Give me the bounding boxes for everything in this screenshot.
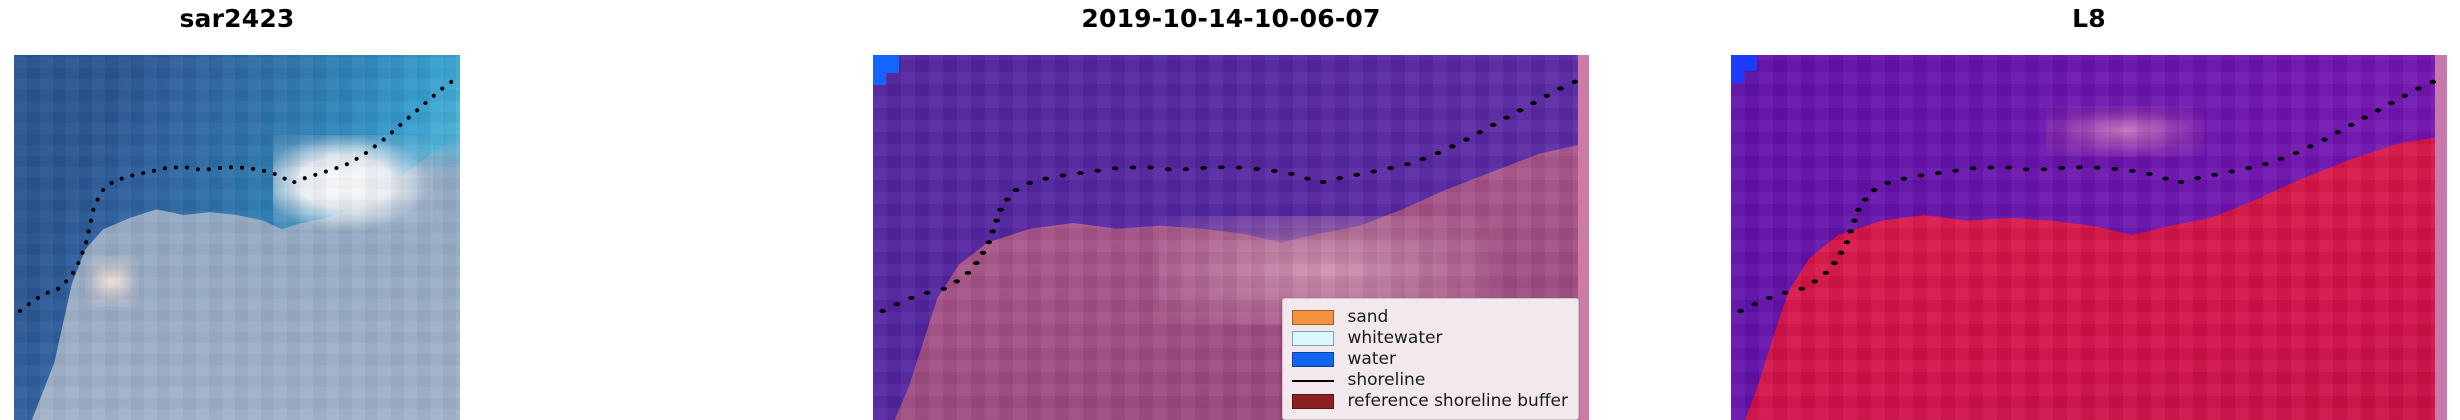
sar-panel-image[interactable] (14, 55, 460, 420)
legend-label-reference-buffer: reference shoreline buffer (1348, 391, 1569, 411)
legend-item-reference-buffer: reference shoreline buffer (1292, 391, 1569, 411)
classification-shoreline-path (883, 77, 1586, 311)
classification-panel-title: 2019-10-14-10-06-07 (873, 4, 1589, 34)
legend-item-water: water (1292, 349, 1569, 369)
reference-buffer-swatch-icon (1292, 394, 1334, 409)
l8-shoreline-path (1741, 77, 2444, 311)
l8-panel-image[interactable] (1731, 55, 2447, 420)
map-legend[interactable]: sand whitewater water shoreline referenc… (1282, 298, 1580, 420)
shoreline-line-icon (1292, 373, 1334, 388)
legend-item-shoreline: shoreline (1292, 370, 1569, 390)
sar-shoreline-overlay (14, 55, 460, 420)
legend-label-water: water (1348, 349, 1396, 369)
legend-label-sand: sand (1348, 307, 1389, 327)
sar-shoreline-path (20, 77, 458, 311)
whitewater-swatch-icon (1292, 331, 1334, 346)
l8-panel-title: L8 (1731, 4, 2447, 34)
sand-swatch-icon (1292, 310, 1334, 325)
legend-label-shoreline: shoreline (1348, 370, 1426, 390)
legend-item-sand: sand (1292, 307, 1569, 327)
figure-canvas: sar2423 2019-10-14-10-06-07 (0, 0, 2460, 420)
l8-shoreline-overlay (1731, 55, 2447, 420)
sar-panel: sar2423 (14, 0, 460, 420)
sar-panel-title: sar2423 (14, 4, 460, 34)
classification-panel: 2019-10-14-10-06-07 sand (873, 0, 1589, 420)
legend-item-whitewater: whitewater (1292, 328, 1569, 348)
legend-label-whitewater: whitewater (1348, 328, 1443, 348)
l8-panel: L8 (1731, 0, 2447, 420)
water-swatch-icon (1292, 352, 1334, 367)
